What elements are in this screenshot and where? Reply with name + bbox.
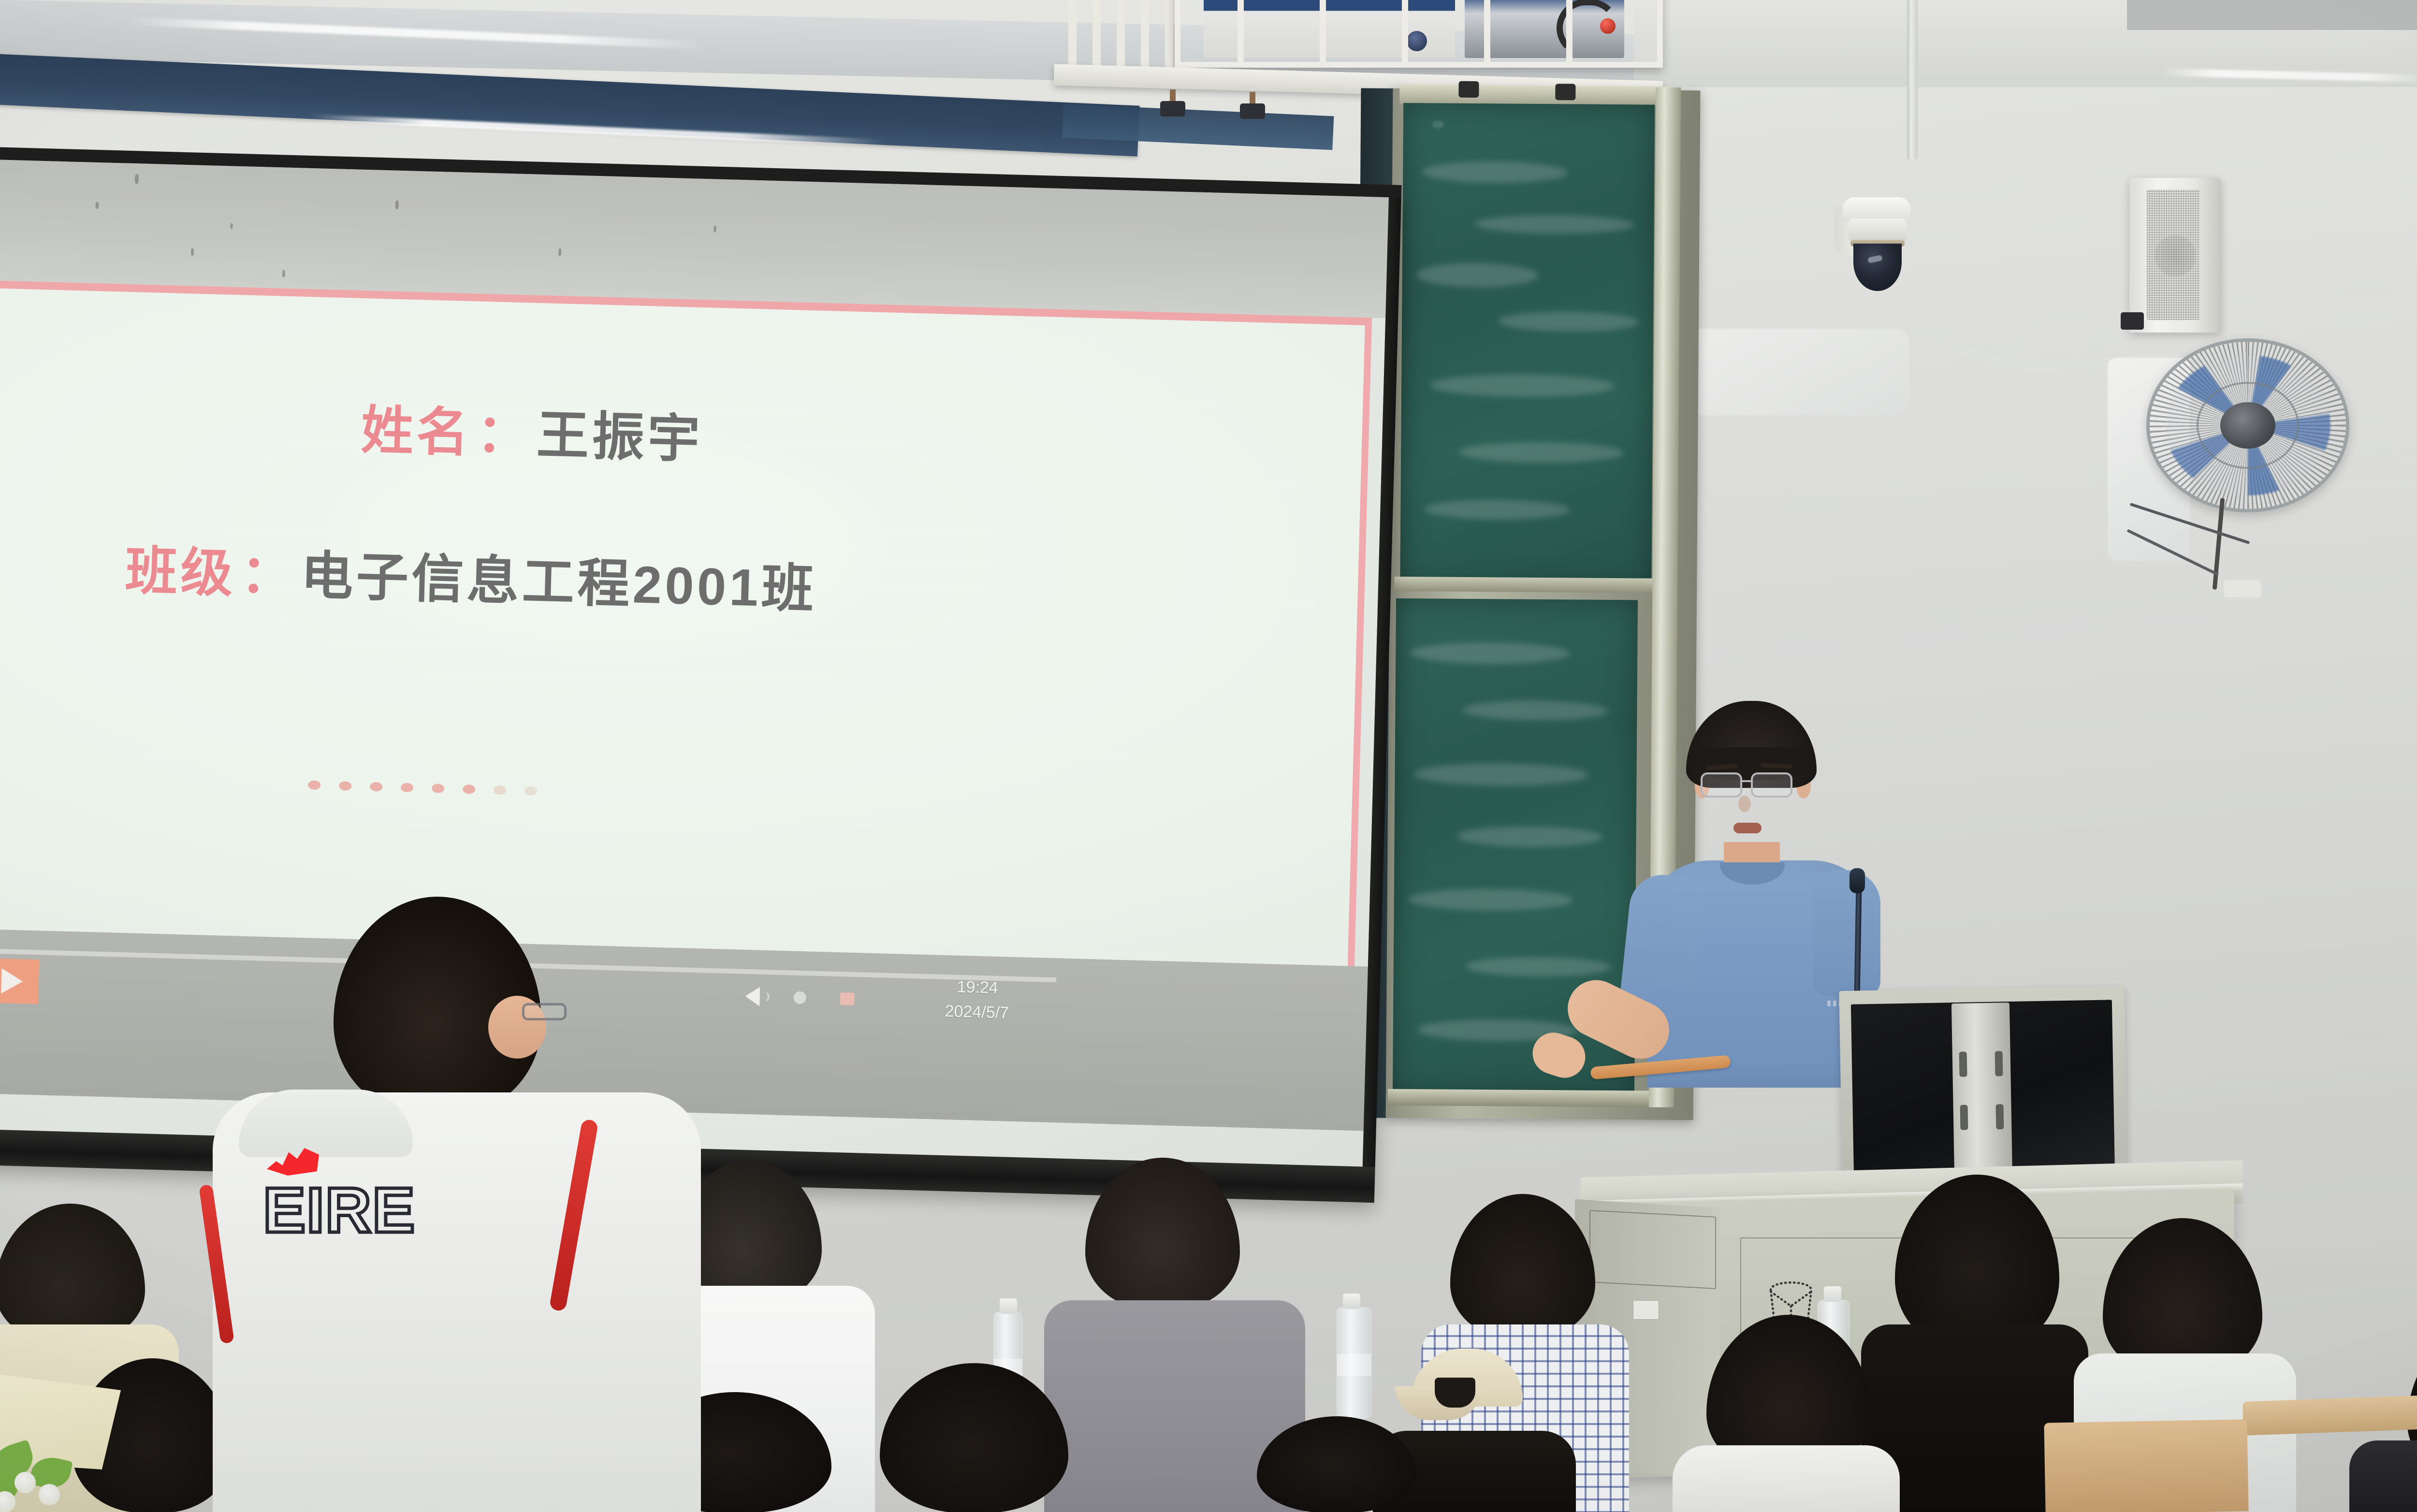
ceiling-edge xyxy=(2127,0,2417,30)
slide-name-colon: ： xyxy=(471,404,538,464)
osd-icon-group xyxy=(745,987,855,1009)
play-icon[interactable] xyxy=(0,958,39,1004)
slide-line-class: 班级：电子信息工程2001班 xyxy=(124,529,818,623)
chair-back xyxy=(2044,1419,2248,1512)
slide-line-name: 姓名：王振宇 xyxy=(360,388,704,473)
fan-guard xyxy=(2146,338,2349,512)
speaker-bracket xyxy=(2121,312,2144,330)
wall-speaker xyxy=(2129,178,2221,333)
projected-slide: 姓名：王振宇 班级：电子信息工程2001班 xyxy=(0,281,1372,1002)
slide-class-colon: ： xyxy=(235,544,302,605)
bouquet-flower xyxy=(39,1484,60,1505)
osd-clock-date: 2024/5/7 xyxy=(945,999,1009,1026)
hoodie-hood xyxy=(239,1090,413,1157)
camera-dome xyxy=(1853,244,1902,291)
speaker-cone xyxy=(2155,235,2196,276)
slide-name-value: 王振宇 xyxy=(536,406,704,468)
projection-screen: 姓名：王振宇 班级：电子信息工程2001班 xyxy=(0,160,1401,1203)
osd-clock-time: 19:24 xyxy=(945,974,1010,1001)
audience-body xyxy=(1673,1445,1900,1512)
eyeglass-bridge xyxy=(1742,780,1752,782)
eyeglass-lens xyxy=(1751,772,1792,798)
cage-mount-foot xyxy=(1160,89,1185,116)
lectern-drawer[interactable] xyxy=(1589,1210,1716,1289)
water-bottle xyxy=(1337,1308,1371,1419)
slide-class-label: 班级 xyxy=(124,541,236,603)
audience-body xyxy=(2349,1440,2417,1512)
chalkboard-slide-knob[interactable] xyxy=(1458,81,1479,98)
osd-clock: 19:24 2024/5/7 xyxy=(945,974,1010,1026)
lectern-monitor-bracket xyxy=(1951,1003,2012,1178)
eyeglass-lens xyxy=(1701,772,1742,798)
presenter-nose xyxy=(1738,796,1751,812)
foreground-student-glasses xyxy=(522,1003,567,1020)
classroom-presentation-photo: 姓名：王振宇 班级：电子信息工程2001班 xyxy=(0,0,2417,1512)
chalkboard-top-rail xyxy=(1399,85,1670,106)
fan-control-box[interactable] xyxy=(2224,580,2261,597)
slide-name-label: 姓名 xyxy=(361,401,473,462)
speaker-icon[interactable] xyxy=(745,987,760,1006)
osd-indicator-dot xyxy=(793,991,806,1004)
hoodie-brand-text: EIRE xyxy=(263,1174,416,1247)
slide-dot-decoration xyxy=(308,780,537,796)
chalkboard-middle-rail xyxy=(1394,577,1658,593)
lectern-label-plate xyxy=(1633,1300,1659,1320)
foreground-student-hoodie: EIRE xyxy=(213,1092,701,1512)
chalkboard-slide-knob[interactable] xyxy=(1555,84,1575,100)
cap-opening xyxy=(1435,1378,1475,1408)
screen-surface: 姓名：王振宇 班级：电子信息工程2001班 xyxy=(0,160,1389,1167)
wall-conduit-vertical xyxy=(1907,0,1918,160)
slide-class-value: 电子信息工程2001班 xyxy=(300,546,817,619)
ptz-dome-camera xyxy=(1832,193,1929,305)
lectern-monitor-frame xyxy=(1839,986,2127,1194)
wall-fan xyxy=(2146,338,2349,512)
flower-bouquet xyxy=(0,1373,126,1512)
eyeglasses xyxy=(1700,772,1806,798)
microphone-head xyxy=(1849,868,1865,893)
cage-mount-foot xyxy=(1240,92,1265,119)
bouquet-flower xyxy=(15,1472,36,1493)
camera-mid-housing xyxy=(1849,218,1907,243)
presenter-mouth xyxy=(1733,823,1762,833)
projector-lens xyxy=(1407,31,1427,51)
fan-hub xyxy=(2220,402,2275,449)
chalkboard-pane-upper xyxy=(1400,103,1655,588)
osd-indicator-badge xyxy=(840,992,855,1005)
